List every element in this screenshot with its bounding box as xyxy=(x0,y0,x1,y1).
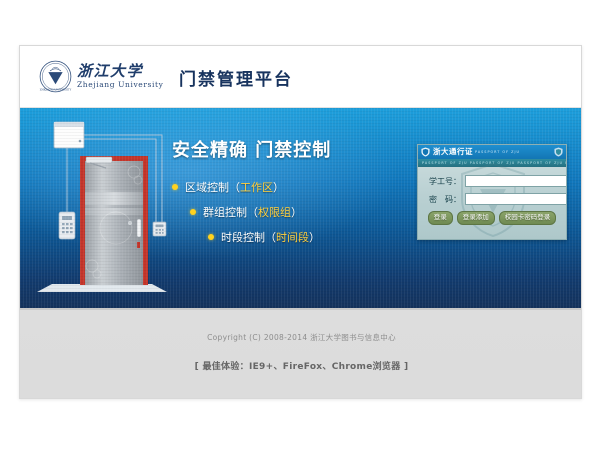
watermark-text: PASSPORT OF ZJU PASSPORT OF ZJU PASSPORT… xyxy=(418,161,566,165)
feature-item-group-control: 群组控制（权限组） xyxy=(172,204,382,220)
login-add-button[interactable]: 登录添加 xyxy=(457,211,495,225)
login-form: 学工号： 密 码： 登录 登录添加 校园卡密码登录 xyxy=(418,167,566,230)
feature-list: 区域控制（工作区） 群组控制（权限组） 时段控制（时间段） xyxy=(172,179,382,245)
login-panel: 浙大通行证 PASSPORT OF ZJU PASSPORT OF ZJU PA… xyxy=(417,144,567,240)
hero-banner: 安全精确 门禁控制 区域控制（工作区） 群组控制（权限组） 时段控制（时间段） xyxy=(20,108,582,308)
campus-card-login-button[interactable]: 校园卡密码登录 xyxy=(499,211,557,225)
student-staff-id-field[interactable] xyxy=(465,175,567,187)
login-button-group: 登录 登录添加 校园卡密码登录 xyxy=(425,211,559,225)
student-staff-id-label: 学工号： xyxy=(425,176,465,187)
login-button[interactable]: 登录 xyxy=(428,211,453,225)
feature-label: 区域控制（工作区） xyxy=(185,179,284,195)
shield-icon xyxy=(421,147,430,157)
feature-item-area-control: 区域控制（工作区） xyxy=(172,179,382,195)
page-title: 门禁管理平台 xyxy=(179,65,293,90)
login-panel-title-cn: 浙大通行证 xyxy=(433,148,473,156)
copyright-text: Copyright (C) 2008-2014 浙江大学图书与信息中心 xyxy=(20,332,582,343)
login-panel-titlebar: 浙大通行证 PASSPORT OF ZJU xyxy=(418,145,566,159)
university-name-en: Zhejiang University xyxy=(77,81,163,89)
university-logo[interactable]: ZHEJIANG UNIVERSITY 浙江大学 Zhejiang Univer… xyxy=(39,60,163,93)
feature-label: 群组控制（权限组） xyxy=(203,204,302,220)
bullet-icon xyxy=(190,209,196,215)
door-access-control-illustration xyxy=(34,116,184,302)
bullet-icon xyxy=(208,234,214,240)
slogan-block: 安全精确 门禁控制 区域控制（工作区） 群组控制（权限组） 时段控制（时间段） xyxy=(172,136,382,254)
site-footer: Copyright (C) 2008-2014 浙江大学图书与信息中心 [ 最佳… xyxy=(20,308,582,398)
site-header: ZHEJIANG UNIVERSITY 浙江大学 Zhejiang Univer… xyxy=(20,46,582,108)
svg-text:ZHEJIANG UNIVERSITY: ZHEJIANG UNIVERSITY xyxy=(40,88,72,91)
password-field[interactable] xyxy=(465,193,567,205)
feature-label: 时段控制（时间段） xyxy=(221,229,320,245)
login-field-row: 密 码： xyxy=(425,193,559,205)
zju-seal-icon: ZHEJIANG UNIVERSITY xyxy=(39,60,72,93)
login-panel-watermark: PASSPORT OF ZJU PASSPORT OF ZJU PASSPORT… xyxy=(418,159,566,167)
password-label: 密 码： xyxy=(425,194,465,205)
login-panel-title-en: PASSPORT OF ZJU xyxy=(475,150,520,154)
shield-badge-icon[interactable] xyxy=(554,147,563,157)
bullet-icon xyxy=(172,184,178,190)
university-name-cn: 浙江大学 xyxy=(77,64,163,79)
browser-support-note: [ 最佳体验：IE9+、FireFox、Chrome浏览器 ] xyxy=(20,359,582,372)
banner-slogan: 安全精确 门禁控制 xyxy=(172,136,382,162)
page-frame: ZHEJIANG UNIVERSITY 浙江大学 Zhejiang Univer… xyxy=(19,45,582,399)
feature-item-time-control: 时段控制（时间段） xyxy=(172,229,382,245)
login-field-row: 学工号： xyxy=(425,175,559,187)
